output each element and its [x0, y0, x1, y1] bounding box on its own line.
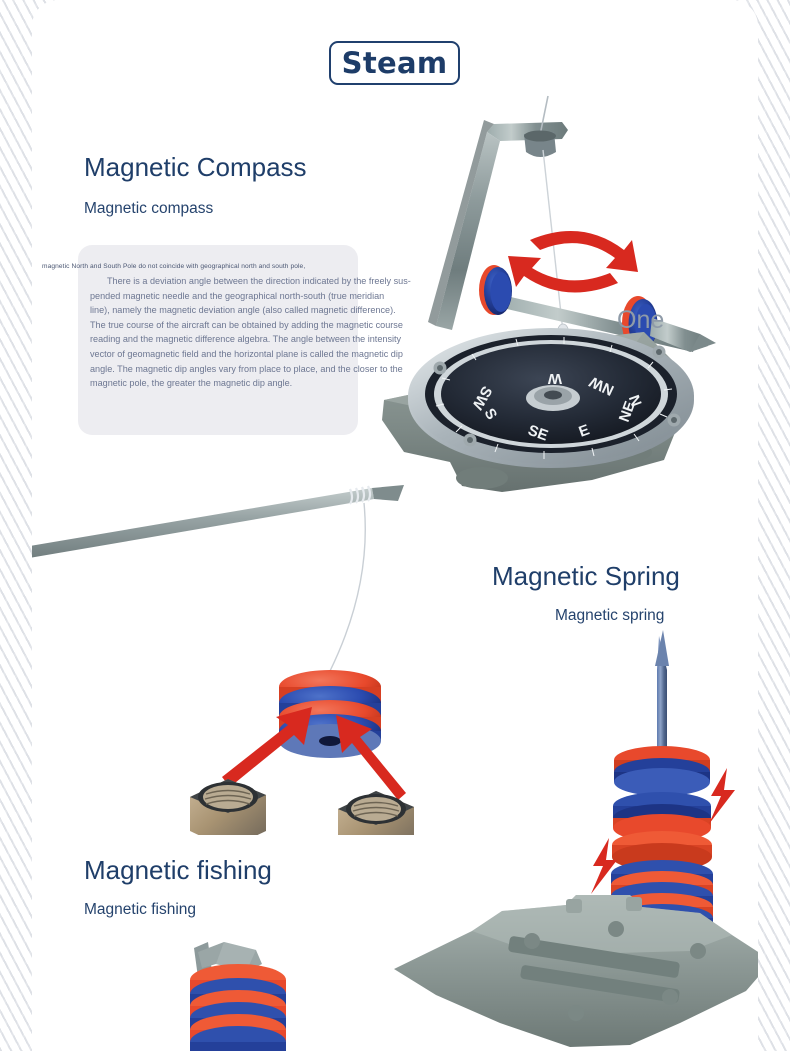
dial-label-n: N [626, 392, 646, 408]
steam-badge: Steam [329, 41, 460, 85]
hex-nut-right [338, 791, 414, 835]
repel-lightning-right-icon [709, 768, 735, 824]
fishing-line [330, 503, 365, 671]
compass-info-line: There is a deviation angle between the d… [90, 274, 510, 289]
compass-info-line: vector of geomagnetic field and the hori… [90, 347, 510, 362]
steam-badge-label: Steam [342, 46, 448, 80]
section-subtitle-magnetic-fishing: Magnetic fishing [84, 901, 196, 919]
compass-info-body: There is a deviation angle between the d… [90, 274, 510, 391]
section-title-magnetic-compass: Magnetic Compass [84, 152, 307, 183]
spring-base-platform [380, 895, 758, 1051]
section-subtitle-magnetic-compass: Magnetic compass [84, 200, 213, 218]
rotation-arrow-icon [508, 231, 638, 292]
compass-info-lead-line: magnetic North and South Pole do not coi… [42, 263, 462, 270]
dial-label-ne: NE [616, 399, 639, 424]
suspension-thread [543, 150, 563, 332]
compass-info-line: reading and the magnetic difference alge… [90, 332, 510, 347]
nail-overlay-word: One [617, 306, 664, 335]
dial-label-w: W [547, 370, 562, 387]
compass-info-line: line), namely the magnetic deviation ang… [90, 303, 510, 318]
section-title-magnetic-spring: Magnetic Spring [492, 561, 680, 592]
bottom-magnet-stack [150, 930, 300, 1051]
compass-info-line: angle. The magnetic dip angles vary from… [90, 362, 510, 377]
section-subtitle-magnetic-spring: Magnetic spring [555, 607, 664, 625]
section-title-magnetic-fishing: Magnetic fishing [84, 855, 272, 886]
suspended-magnet-bar [479, 265, 716, 352]
magnetic-fishing-illustration [32, 455, 440, 835]
dial-label-e: E [577, 421, 592, 440]
dial-label-s: S [481, 406, 501, 423]
product-detail-card: Steam Magnetic Compass Magnetic compass … [32, 0, 758, 1051]
dial-label-nw: NW [586, 372, 617, 398]
compass-hub [526, 385, 580, 411]
hex-nut-left [190, 779, 266, 835]
dial-label-se: SE [526, 422, 551, 445]
compass-info-line: magnetic pole, the greater the magnetic … [90, 376, 510, 391]
compass-info-line: pended magnetic needle and the geographi… [90, 289, 510, 304]
fishing-rod [32, 485, 404, 563]
compass-info-line: The true course of the aircraft can be o… [90, 318, 510, 333]
